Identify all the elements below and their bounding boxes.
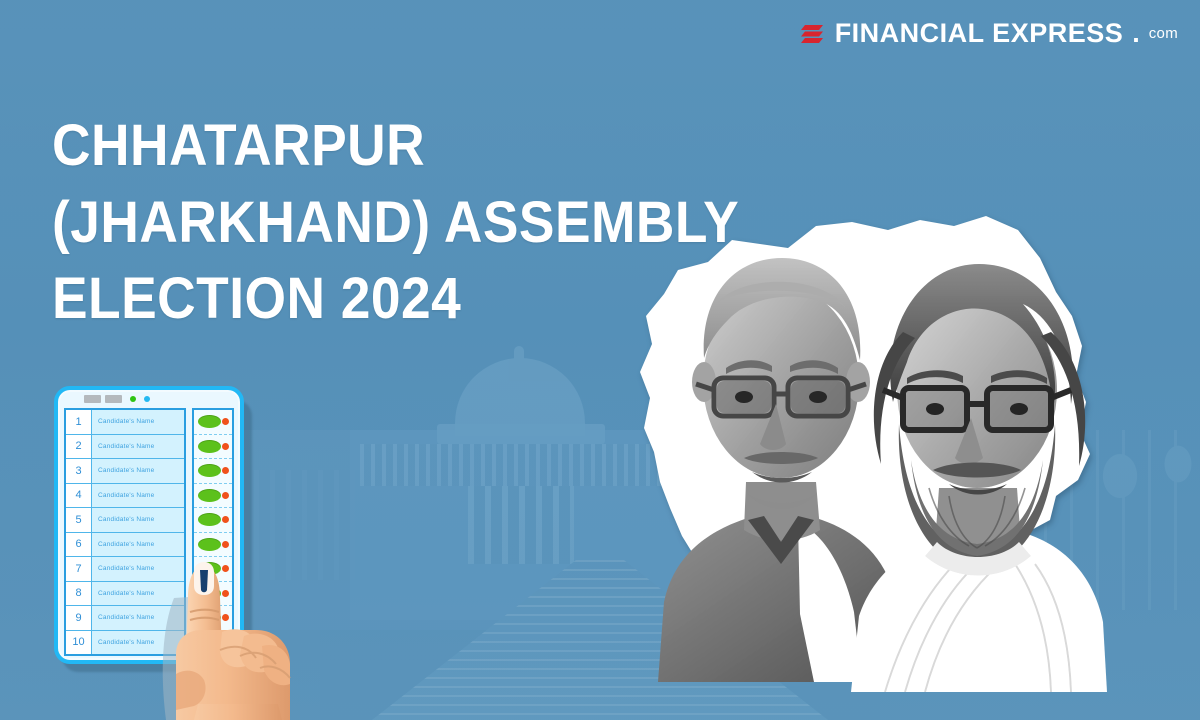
candidate-number: 2 [66,435,92,459]
evm-lamp-1-icon [222,418,229,425]
candidate-number: 5 [66,508,92,532]
page-title-line-2: (JHARKHAND) ASSEMBLY [52,185,641,262]
candidate-name: Candidate's Name [92,516,154,523]
candidate-number: 4 [66,484,92,508]
candidate-number: 6 [66,533,92,557]
voter-hand-pointing-icon [152,478,297,720]
brand-tld: com [1149,26,1178,41]
candidate-name: Candidate's Name [92,443,154,450]
candidate-name: Candidate's Name [92,492,154,499]
page-title-line-1: CHHATARPUR [52,108,641,185]
evm-vote-row-1[interactable] [194,410,232,435]
evm-led-green-icon [130,396,136,402]
page-title-line-3: ELECTION 2024 [52,261,641,338]
evm-status-bar [54,391,244,407]
candidate-number: 7 [66,557,92,581]
candidate-name: Candidate's Name [92,614,154,621]
candidate-number: 9 [66,606,92,630]
table-row: 1 Candidate's Name [66,410,184,435]
candidate-name: Candidate's Name [92,639,154,646]
financial-express-logo[interactable]: FINANCIAL EXPRESS . com [800,20,1178,47]
evm-lamp-3-icon [222,467,229,474]
page-title: CHHATARPUR (JHARKHAND) ASSEMBLY ELECTION… [52,108,641,338]
candidate-name: Candidate's Name [92,418,154,425]
evm-lamp-2-icon [222,443,229,450]
election-graphic-banner: FINANCIAL EXPRESS . com CHHATARPUR (JHAR… [0,0,1200,720]
candidate-number: 3 [66,459,92,483]
evm-vote-button-2[interactable] [198,440,221,453]
candidate-name: Candidate's Name [92,541,154,548]
financial-express-stacked-bars-icon [800,21,826,47]
candidate-number: 8 [66,582,92,606]
politician-portrait-right [845,212,1110,692]
candidate-name: Candidate's Name [92,590,154,597]
brand-name: FINANCIAL EXPRESS [835,20,1124,47]
brand-dot: . [1132,20,1140,47]
table-row: 2 Candidate's Name [66,435,184,460]
candidate-name: Candidate's Name [92,565,154,572]
candidate-number: 1 [66,410,92,434]
candidate-number: 10 [66,631,92,655]
evm-vote-button-3[interactable] [198,464,221,477]
evm-slot-right [105,395,122,403]
candidate-name: Candidate's Name [92,467,154,474]
evm-led-blue-icon [144,396,150,402]
evm-slot-left [84,395,101,403]
evm-vote-row-2[interactable] [194,435,232,460]
evm-vote-button-1[interactable] [198,415,221,428]
